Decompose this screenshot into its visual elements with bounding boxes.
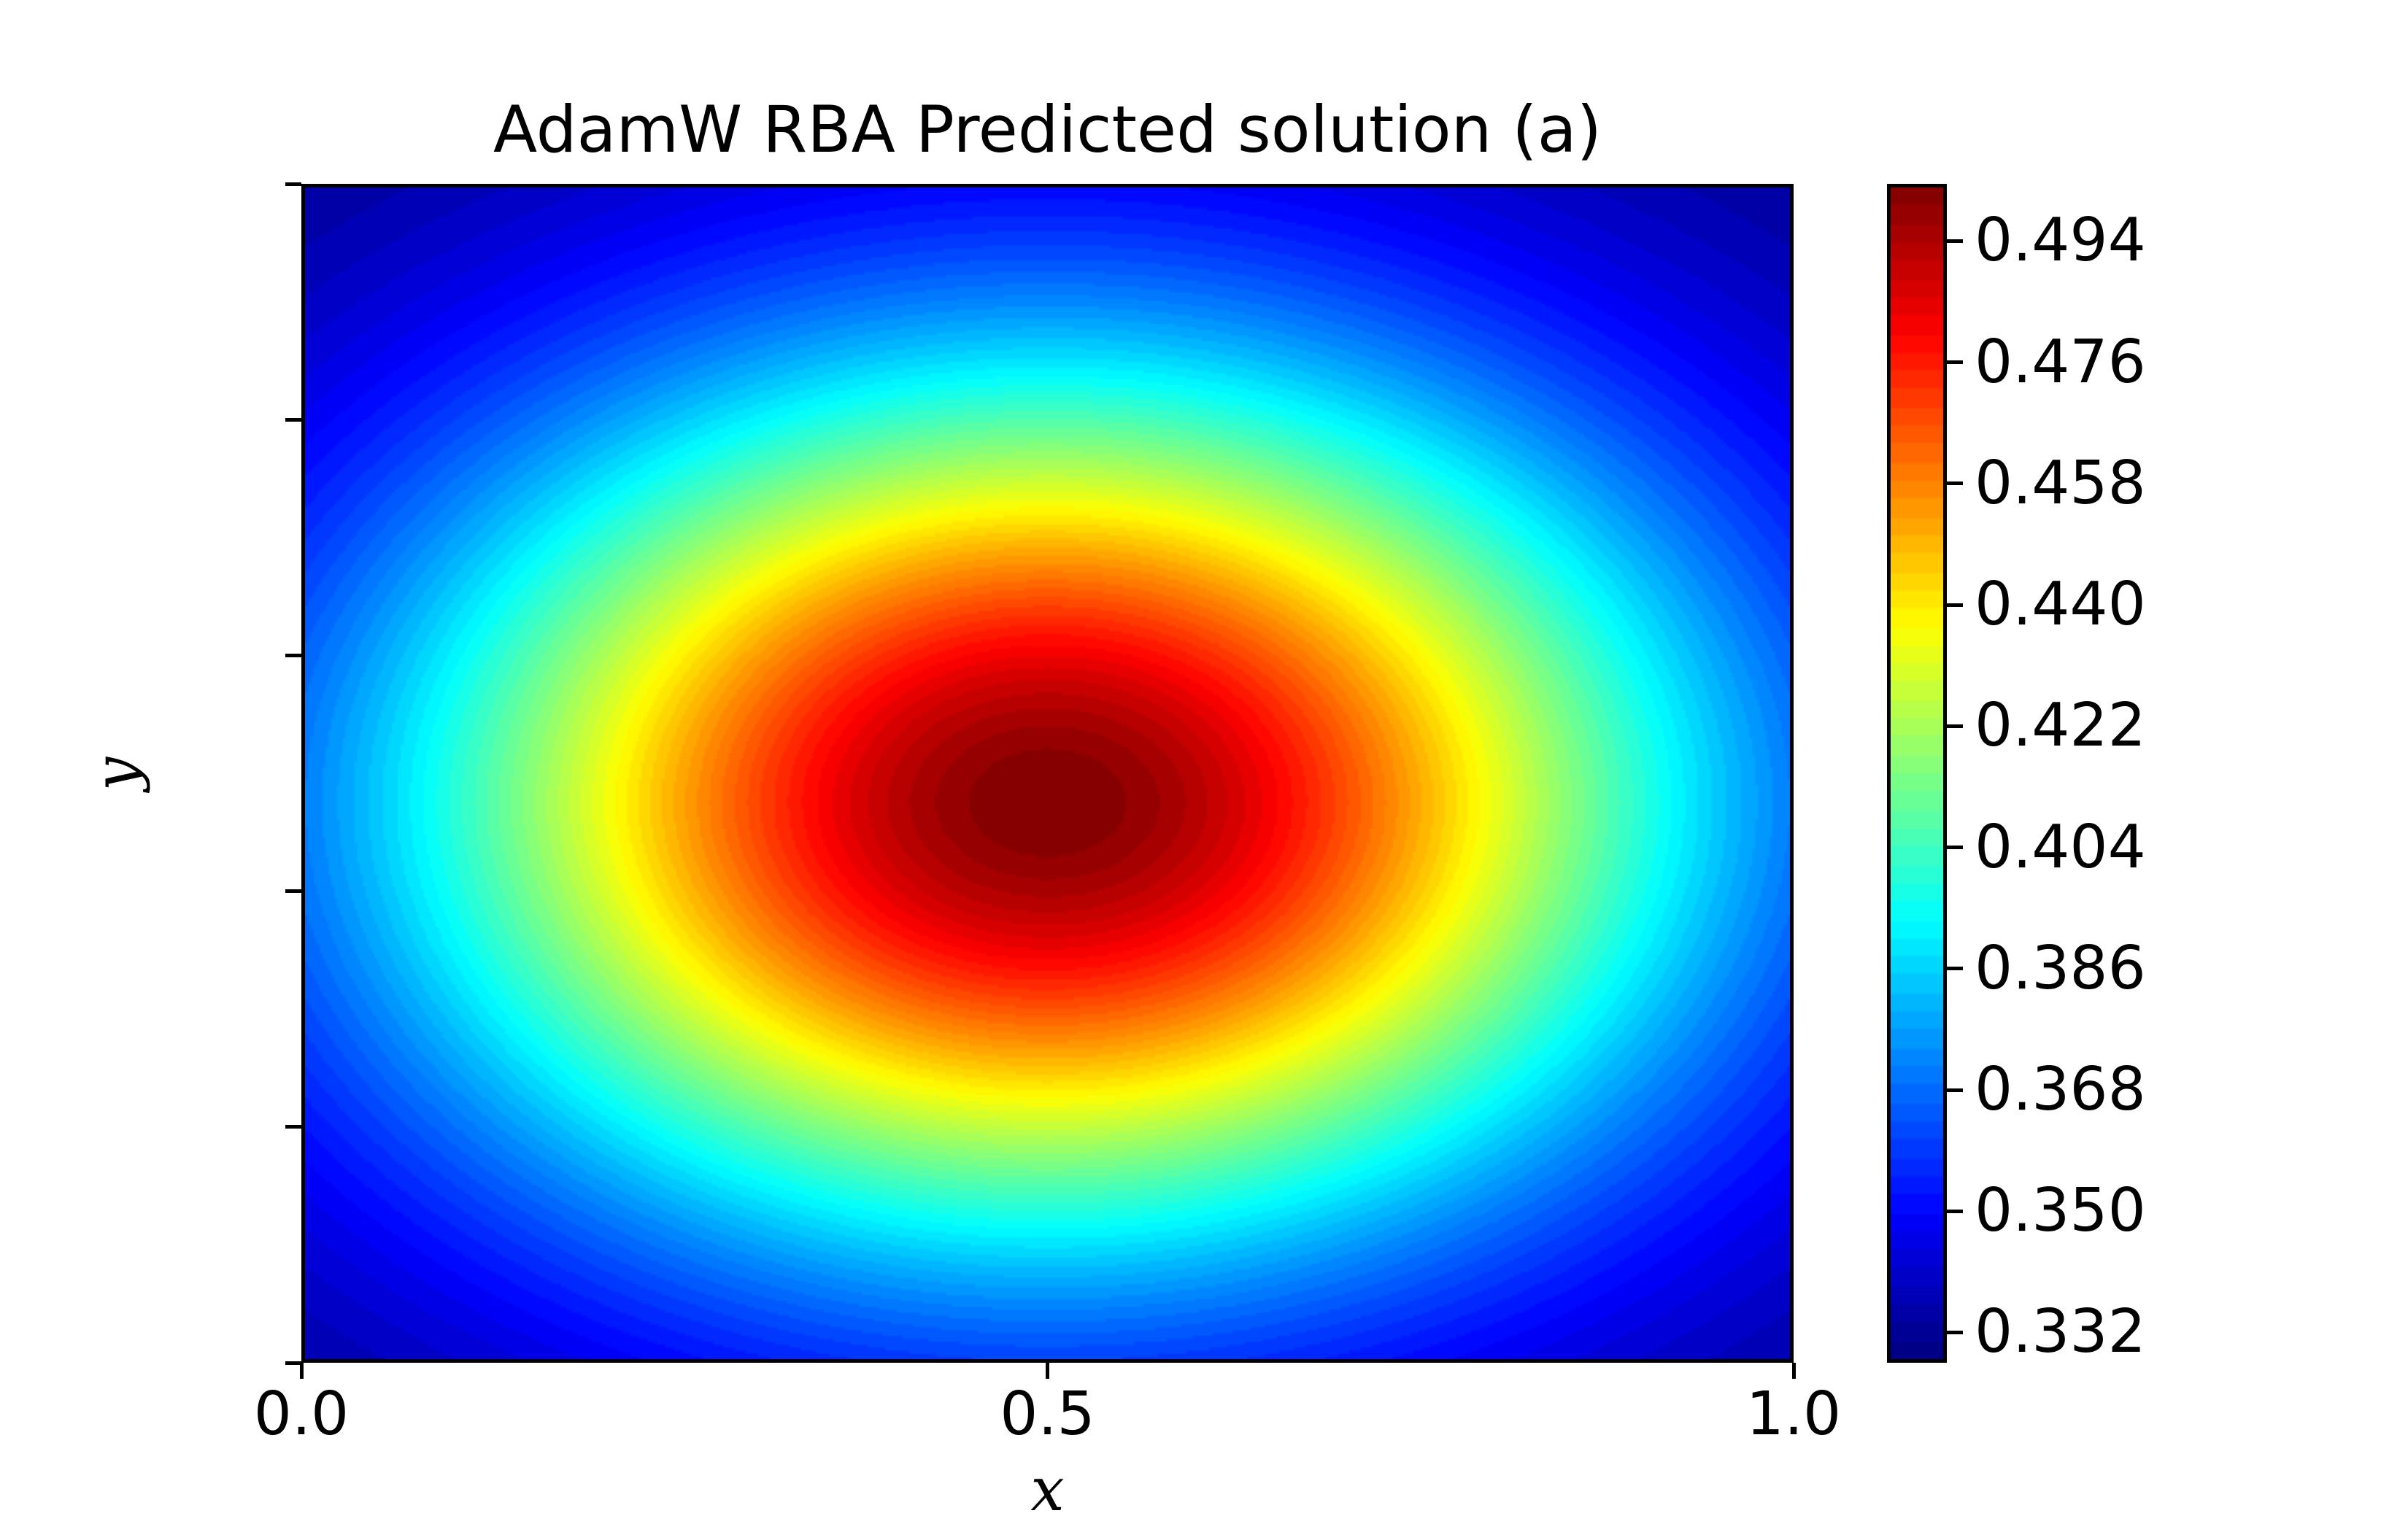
x-tick-mark	[1046, 1363, 1049, 1379]
colorbar-tick-mark	[1947, 481, 1963, 485]
colorbar-tick-mark	[1947, 239, 1963, 243]
colorbar-tick-label: 0.494	[1975, 211, 2146, 271]
colorbar-tick-mark	[1947, 724, 1963, 728]
colorbar-tick-mark	[1947, 967, 1963, 970]
colorbar-tick-mark	[1947, 360, 1963, 364]
colorbar-tick-label: 0.476	[1975, 333, 2146, 392]
page-title: AdamW RBA Predicted solution (a)	[301, 93, 1794, 166]
colorbar-tick-label: 0.458	[1975, 454, 2146, 514]
heatmap-surface	[305, 187, 1790, 1359]
colorbar-tick-label: 0.332	[1975, 1302, 2146, 1362]
y-tick-mark	[285, 654, 301, 657]
colorbar-tick-label: 0.422	[1975, 696, 2146, 756]
x-tick-label: 1.0	[1746, 1385, 1841, 1444]
colorbar-tick-mark	[1947, 603, 1963, 607]
figure-canvas: AdamW RBA Predicted solution (a) 0.00.20…	[0, 0, 2408, 1532]
colorbar-tick-label: 0.404	[1975, 818, 2146, 878]
colorbar-tick-label: 0.440	[1975, 575, 2146, 635]
colorbar-tick-label: 0.350	[1975, 1181, 2146, 1241]
x-tick-label: 0.5	[1000, 1385, 1095, 1444]
x-tick-mark	[300, 1363, 304, 1379]
colorbar-tick-mark	[1947, 1088, 1963, 1092]
x-axis-label: x	[301, 1459, 1794, 1522]
colorbar-tick-mark	[1947, 1331, 1963, 1334]
y-tick-mark	[285, 889, 301, 893]
colorbar[interactable]	[1887, 184, 1947, 1363]
y-axis-label: y	[85, 730, 148, 818]
x-tick-label: 0.0	[254, 1385, 349, 1444]
colorbar-tick-label: 0.386	[1975, 939, 2146, 999]
y-tick-mark	[285, 418, 301, 422]
x-tick-mark	[1792, 1363, 1796, 1379]
colorbar-gradient	[1891, 187, 1943, 1359]
heatmap-plot-area[interactable]	[301, 184, 1794, 1363]
y-tick-mark	[285, 182, 301, 186]
colorbar-tick-mark	[1947, 1210, 1963, 1213]
colorbar-tick-mark	[1947, 846, 1963, 849]
colorbar-tick-label: 0.368	[1975, 1060, 2146, 1120]
y-tick-mark	[285, 1125, 301, 1129]
